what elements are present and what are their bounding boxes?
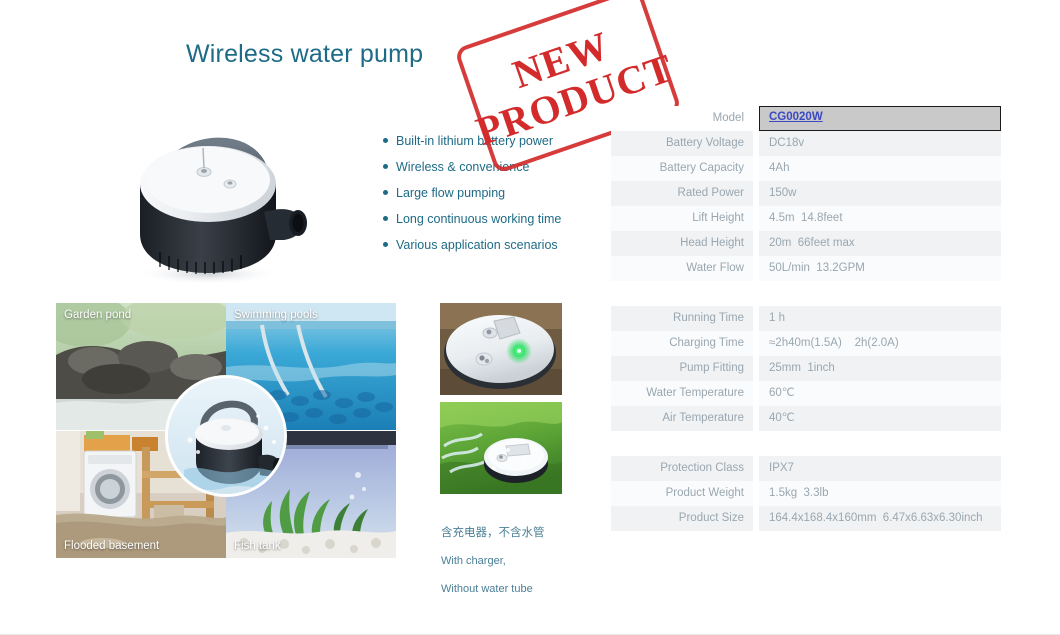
spec-value: ≈2h40m(1.5A) 2h(2.0A) <box>759 331 1001 356</box>
spec-table-performance: Running Time 1 h Charging Time ≈2h40m(1.… <box>611 306 1001 431</box>
spec-label: Battery Voltage <box>611 131 753 156</box>
spec-label: Lift Height <box>611 206 753 231</box>
bullet-icon <box>383 216 388 221</box>
spec-value: 150w <box>759 181 1001 206</box>
spec-value: 40℃ <box>759 406 1001 431</box>
table-row: Air Temperature 40℃ <box>611 406 1001 431</box>
table-row: Product Weight 1.5kg 3.3lb <box>611 481 1001 506</box>
spec-table-primary: Model CG0020W Battery Voltage DC18v Batt… <box>611 106 1001 281</box>
caption-english-line1: With charger, <box>441 554 545 568</box>
spec-label: Running Time <box>611 306 753 331</box>
table-row: Rated Power 150w <box>611 181 1001 206</box>
spec-table-physical: Protection Class IPX7 Product Weight 1.5… <box>611 456 1001 531</box>
page-title: Wireless water pump <box>186 40 423 69</box>
bullet-icon <box>383 190 388 195</box>
bullet-icon <box>383 242 388 247</box>
detail-photo-top-view <box>440 303 562 395</box>
spec-label: Product Weight <box>611 481 753 506</box>
bullet-icon <box>383 164 388 169</box>
table-row: Product Size 164.4x168.4x160mm 6.47x6.63… <box>611 506 1001 531</box>
spec-value: 60℃ <box>759 381 1001 406</box>
spec-value: 164.4x168.4x160mm 6.47x6.63x6.30inch <box>759 506 1001 531</box>
spec-value-model: CG0020W <box>759 106 1001 131</box>
table-row: Protection Class IPX7 <box>611 456 1001 481</box>
scenario-label: Swimming pools <box>234 309 318 321</box>
spec-value: 1 h <box>759 306 1001 331</box>
application-scenario-grid: Garden pond <box>56 303 396 558</box>
table-row: Battery Voltage DC18v <box>611 131 1001 156</box>
table-row: Water Flow 50L/min 13.2GPM <box>611 256 1001 281</box>
list-item: Wireless & convenience <box>383 160 613 186</box>
table-row: Running Time 1 h <box>611 306 1001 331</box>
list-item: Long continuous working time <box>383 212 613 238</box>
spec-value: 50L/min 13.2GPM <box>759 256 1001 281</box>
feature-label: Various application scenarios <box>396 238 558 252</box>
table-row: Battery Capacity 4Ah <box>611 156 1001 181</box>
spec-label: Water Flow <box>611 256 753 281</box>
scenario-label: Fish tank <box>234 540 281 552</box>
spec-label: Battery Capacity <box>611 156 753 181</box>
bullet-icon <box>383 138 388 143</box>
feature-list: Built-in lithium battery power Wireless … <box>383 134 613 264</box>
scenario-label: Garden pond <box>64 309 131 321</box>
caption-english-line2: Without water tube <box>441 582 545 596</box>
table-row: Charging Time ≈2h40m(1.5A) 2h(2.0A) <box>611 331 1001 356</box>
spec-label: Pump Fitting <box>611 356 753 381</box>
spec-label: Air Temperature <box>611 406 753 431</box>
feature-label: Long continuous working time <box>396 212 561 226</box>
table-row: Pump Fitting 25mm 1inch <box>611 356 1001 381</box>
spec-label: Rated Power <box>611 181 753 206</box>
detail-photo-in-use <box>440 402 562 494</box>
product-spec-sheet: Wireless water pump <box>0 0 1060 635</box>
table-row: Lift Height 4.5m 14.8feet <box>611 206 1001 231</box>
caption-chinese: 含充电器，不含水管 <box>441 526 545 540</box>
list-item: Large flow pumping <box>383 186 613 212</box>
spec-label: Water Temperature <box>611 381 753 406</box>
stamp-line-new: NEW <box>508 25 614 95</box>
spec-value: 20m 66feet max <box>759 231 1001 256</box>
spec-label: Model <box>611 106 753 131</box>
feature-label: Wireless & convenience <box>396 160 529 174</box>
spec-value: 25mm 1inch <box>759 356 1001 381</box>
feature-label: Large flow pumping <box>396 186 505 200</box>
table-row: Model CG0020W <box>611 106 1001 131</box>
feature-label: Built-in lithium battery power <box>396 134 553 148</box>
spec-label: Charging Time <box>611 331 753 356</box>
spec-value: 1.5kg 3.3lb <box>759 481 1001 506</box>
spec-label: Protection Class <box>611 456 753 481</box>
spec-label: Product Size <box>611 506 753 531</box>
scenario-label: Flooded basement <box>64 540 159 552</box>
product-hero-photo <box>112 92 312 287</box>
spec-value: DC18v <box>759 131 1001 156</box>
spec-value: 4.5m 14.8feet <box>759 206 1001 231</box>
list-item: Various application scenarios <box>383 238 613 264</box>
spec-value: 4Ah <box>759 156 1001 181</box>
list-item: Built-in lithium battery power <box>383 134 613 160</box>
pump-circle-inset <box>165 375 287 497</box>
spec-label: Head Height <box>611 231 753 256</box>
spec-value: IPX7 <box>759 456 1001 481</box>
package-contents-caption: 含充电器，不含水管 With charger, Without water tu… <box>441 512 545 610</box>
table-row: Head Height 20m 66feet max <box>611 231 1001 256</box>
table-row: Water Temperature 60℃ <box>611 381 1001 406</box>
